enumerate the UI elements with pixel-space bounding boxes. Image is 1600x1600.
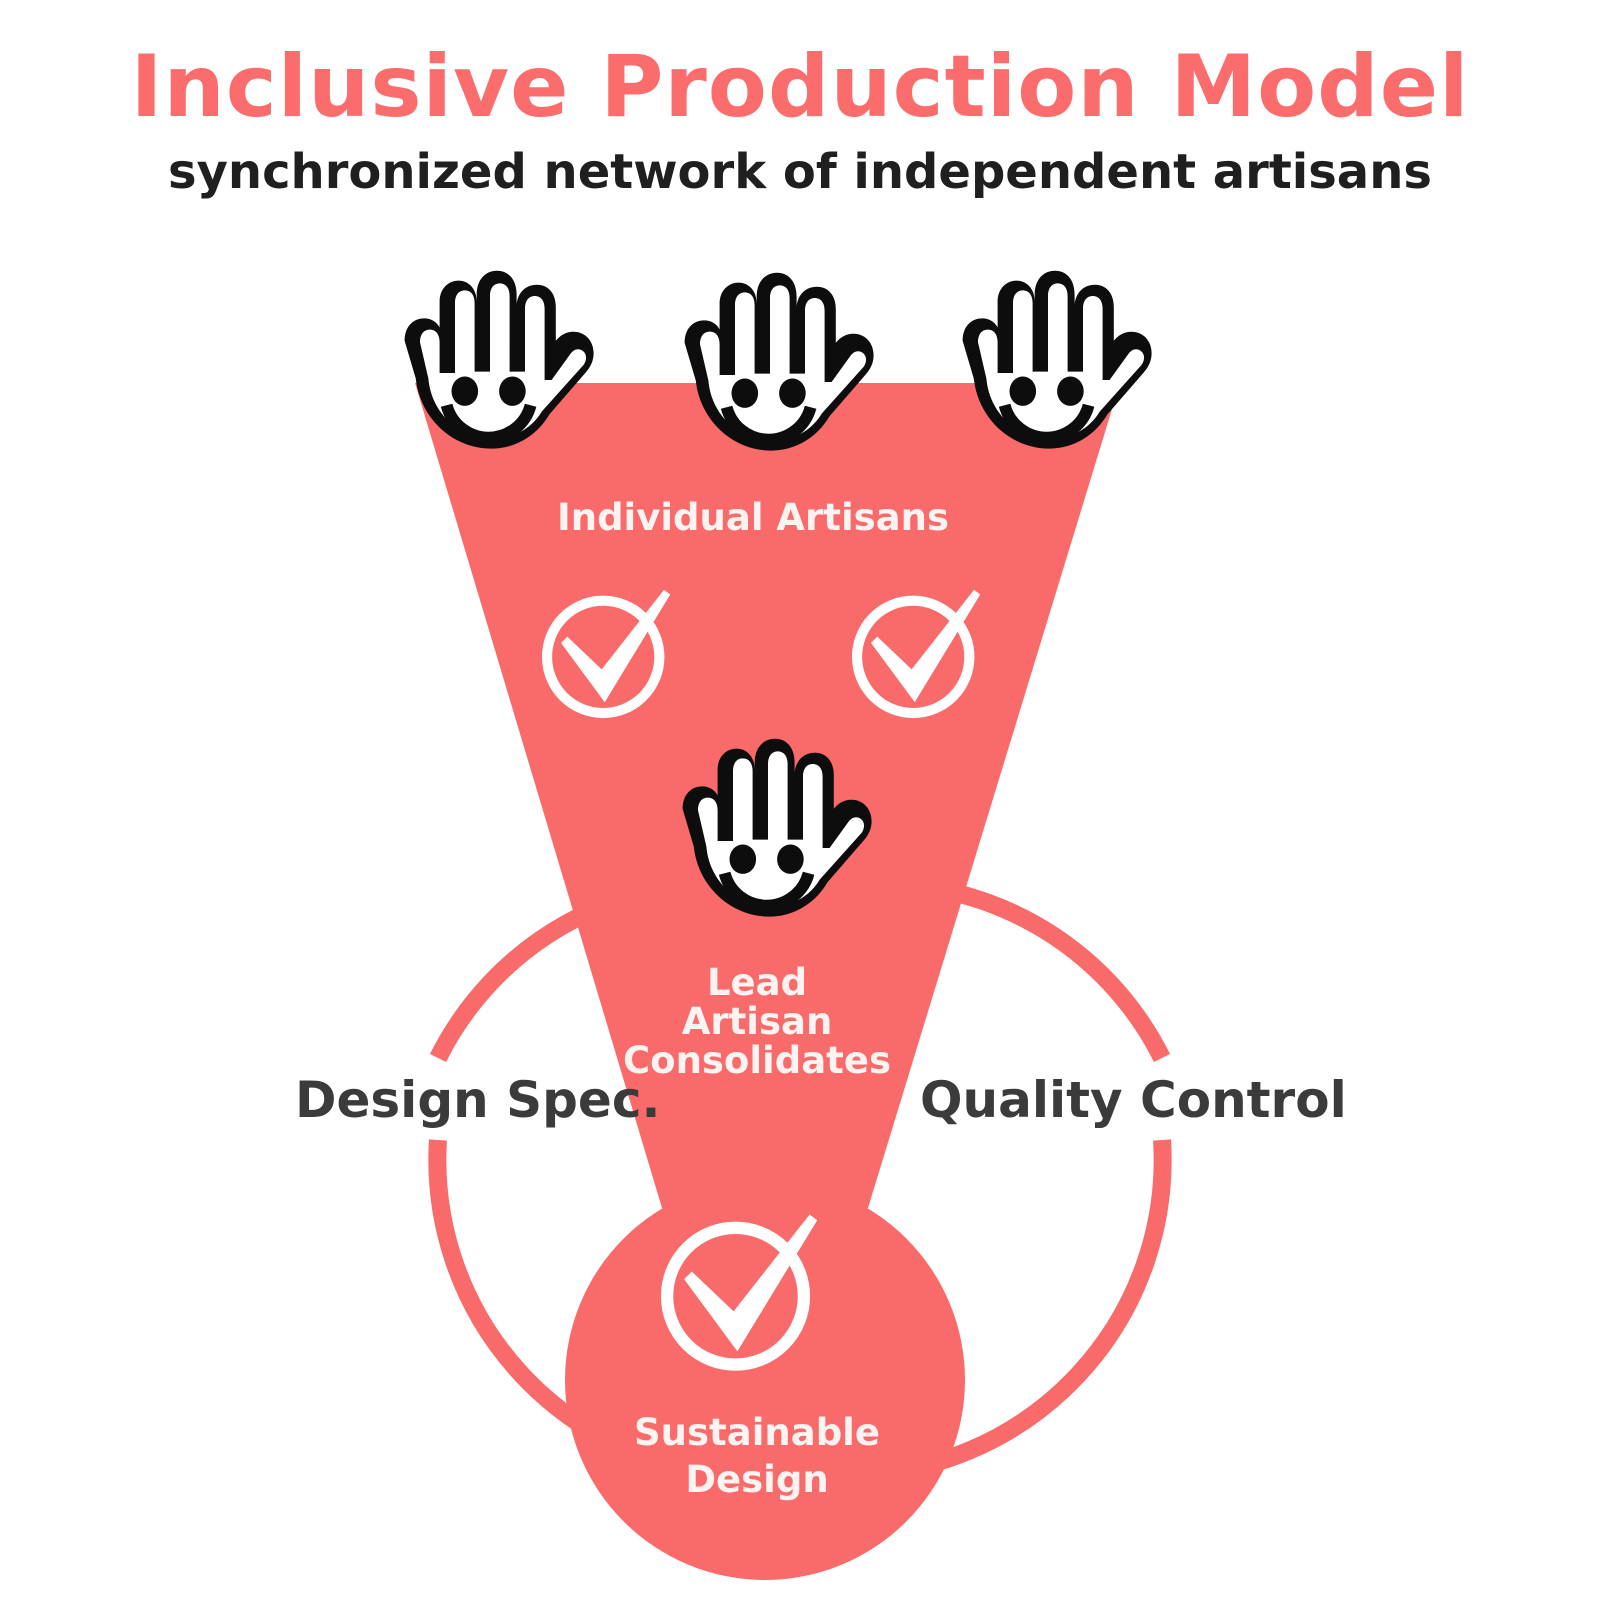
diagram-canvas: Individual Artisans Lead Artisan Consoli… <box>0 0 1600 1600</box>
ring-label-design-spec: Design Spec. <box>295 1071 660 1129</box>
funnel-mid-label-line-1: Lead <box>707 961 807 1004</box>
infographic-root: Inclusive Production Model synchronized … <box>0 0 1600 1600</box>
funnel-top-label: Individual Artisans <box>557 496 949 539</box>
ring-label-quality-control: Quality Control <box>920 1071 1347 1129</box>
funnel-mid-label-line-3: Consolidates <box>623 1039 891 1082</box>
outcome-label-line-1: Sustainable <box>634 1411 880 1454</box>
outcome-label-line-2: Design <box>685 1458 828 1501</box>
funnel-mid-label-line-2: Artisan <box>682 1000 833 1043</box>
